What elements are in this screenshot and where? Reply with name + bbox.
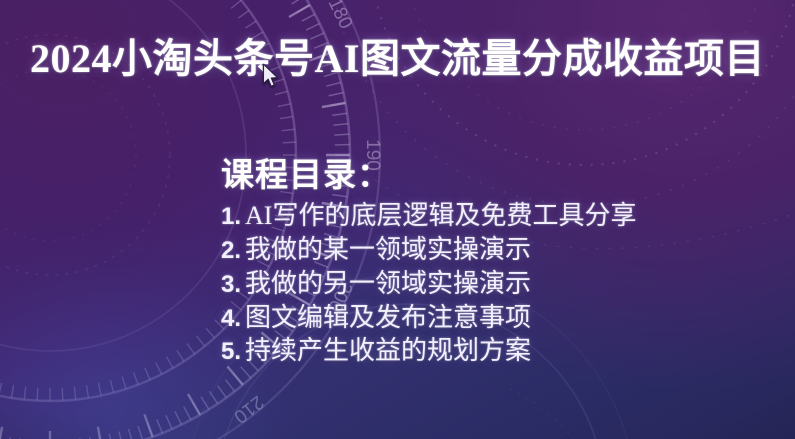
list-item-index: 2. <box>221 237 241 264</box>
list-item-label: AI写作的底层逻辑及免费工具分享 <box>245 201 636 230</box>
poster-canvas: 170180190200210220230 2024小淘头条号AI图文流量分成收… <box>0 0 795 439</box>
course-catalog: 课程目录： 1.AI写作的底层逻辑及免费工具分享 2.我做的某一领域实操演示 3… <box>221 156 741 368</box>
list-item: 5.持续产生收益的规划方案 <box>221 334 741 368</box>
list-item-label: 持续产生收益的规划方案 <box>245 336 531 365</box>
page-title: 2024小淘头条号AI图文流量分成收益项目 <box>0 38 795 80</box>
mouse-pointer-icon <box>262 63 280 89</box>
list-item: 2.我做的某一领域实操演示 <box>221 233 741 267</box>
list-item-label: 我做的某一领域实操演示 <box>245 235 531 264</box>
catalog-list: 1.AI写作的底层逻辑及免费工具分享 2.我做的某一领域实操演示 3.我做的另一… <box>221 199 741 368</box>
list-item-index: 5. <box>221 338 241 365</box>
list-item-label: 我做的另一领域实操演示 <box>245 269 531 298</box>
list-item-label: 图文编辑及发布注意事项 <box>245 303 531 332</box>
list-item-index: 1. <box>221 203 241 230</box>
dial-degree-label: 210 <box>230 391 268 427</box>
catalog-heading: 课程目录： <box>221 156 741 197</box>
list-item-index: 3. <box>221 271 241 298</box>
list-item: 1.AI写作的底层逻辑及免费工具分享 <box>221 199 741 233</box>
dial-degree-label: 180 <box>323 0 356 32</box>
list-item-index: 4. <box>221 305 241 332</box>
list-item: 3.我做的另一领域实操演示 <box>221 267 741 301</box>
list-item: 4.图文编辑及发布注意事项 <box>221 301 741 335</box>
